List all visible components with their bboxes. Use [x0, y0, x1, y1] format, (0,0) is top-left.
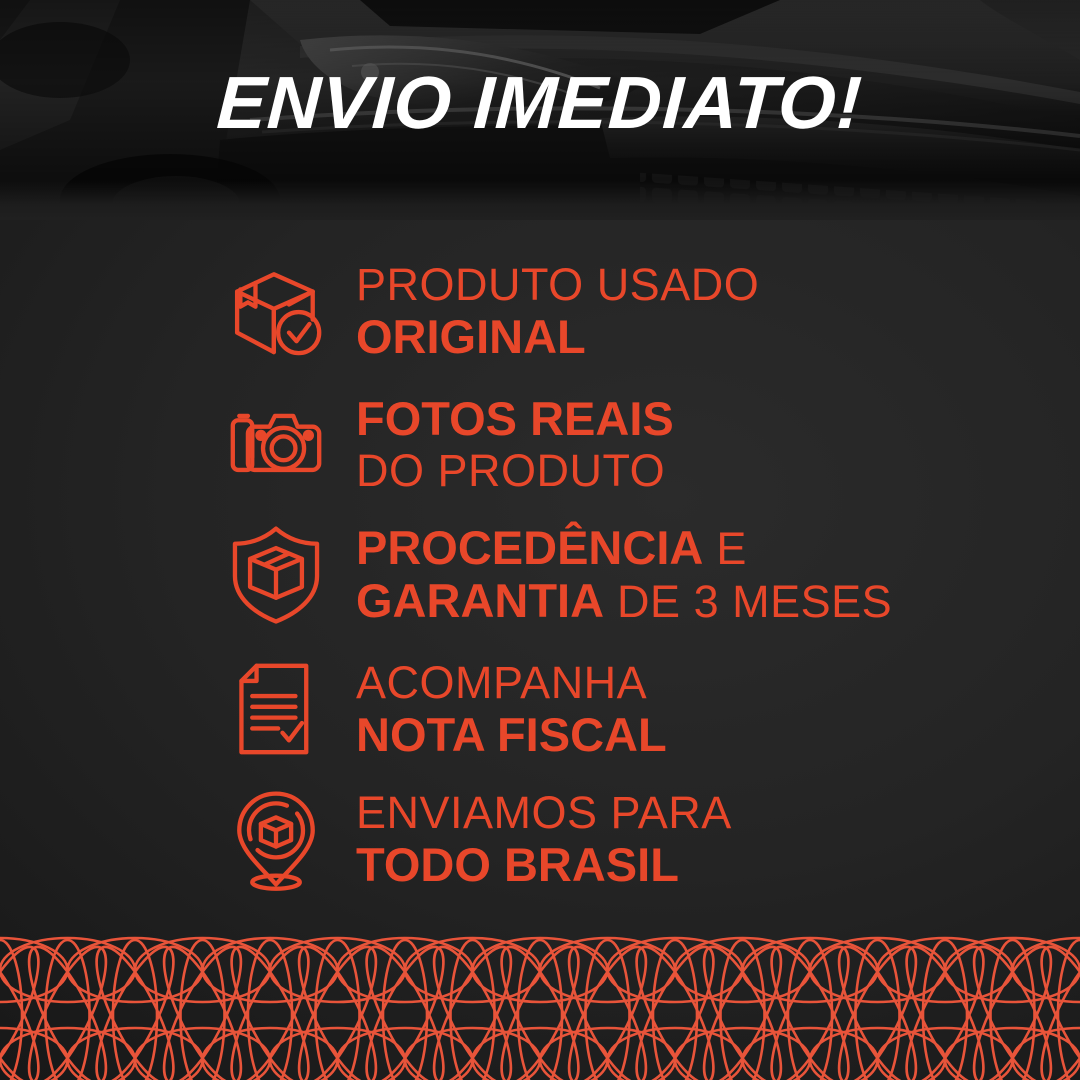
feature-line-2: NOTA FISCAL	[356, 711, 667, 758]
feature-line-1: FOTOS REAIS	[356, 395, 674, 442]
feature-line-2: TODO BRASIL	[356, 841, 732, 888]
feature-row-todo-brasil: ENVIAMOS PARA TODO BRASIL	[222, 785, 732, 893]
feature-line-2-light: DE 3 MESES	[604, 576, 892, 627]
feature-line-2: DO PRODUTO	[356, 448, 674, 493]
feature-list: PRODUTO USADO ORIGINAL FOTOS REAIS DO PR…	[0, 205, 1080, 935]
feature-line-2-bold: GARANTIA	[356, 574, 604, 627]
feature-text: PRODUTO USADO ORIGINAL	[356, 262, 759, 360]
promo-banner: ENVIO IMEDIATO! PRODUTO USADO ORIGINAL	[0, 0, 1080, 1080]
feature-text: ACOMPANHA NOTA FISCAL	[356, 660, 667, 758]
feature-line-1-bold: PROCEDÊNCIA	[356, 521, 703, 574]
feature-row-nota-fiscal: ACOMPANHA NOTA FISCAL	[222, 655, 667, 763]
feature-line-1: ACOMPANHA	[356, 660, 667, 705]
headline-container: ENVIO IMEDIATO!	[0, 0, 1080, 205]
camera-icon	[222, 390, 330, 498]
shield-box-icon	[222, 520, 330, 628]
hero-header: ENVIO IMEDIATO!	[0, 0, 1080, 205]
feature-row-procedencia-garantia: PROCEDÊNCIA E GARANTIA DE 3 MESES	[222, 520, 892, 628]
feature-line-1: PRODUTO USADO	[356, 262, 759, 307]
package-box-check-icon	[222, 257, 330, 365]
feature-text: PROCEDÊNCIA E GARANTIA DE 3 MESES	[356, 524, 892, 624]
headline-text: ENVIO IMEDIATO!	[215, 66, 864, 140]
feature-row-fotos-reais: FOTOS REAIS DO PRODUTO	[222, 390, 674, 498]
invoice-document-check-icon	[222, 655, 330, 763]
feature-text: ENVIAMOS PARA TODO BRASIL	[356, 790, 732, 888]
feature-text: FOTOS REAIS DO PRODUTO	[356, 395, 674, 493]
feature-line-2: GARANTIA DE 3 MESES	[356, 577, 892, 624]
feature-row-produto-usado-original: PRODUTO USADO ORIGINAL	[222, 257, 759, 365]
map-pin-box-icon	[222, 785, 330, 893]
feature-line-1: ENVIAMOS PARA	[356, 790, 732, 835]
feature-line-2: ORIGINAL	[356, 313, 759, 360]
decorative-bottom-border	[0, 930, 1080, 1080]
geometric-lattice-pattern	[0, 930, 1080, 1080]
feature-line-1-light: E	[703, 523, 747, 574]
feature-line-1: PROCEDÊNCIA E	[356, 524, 892, 571]
